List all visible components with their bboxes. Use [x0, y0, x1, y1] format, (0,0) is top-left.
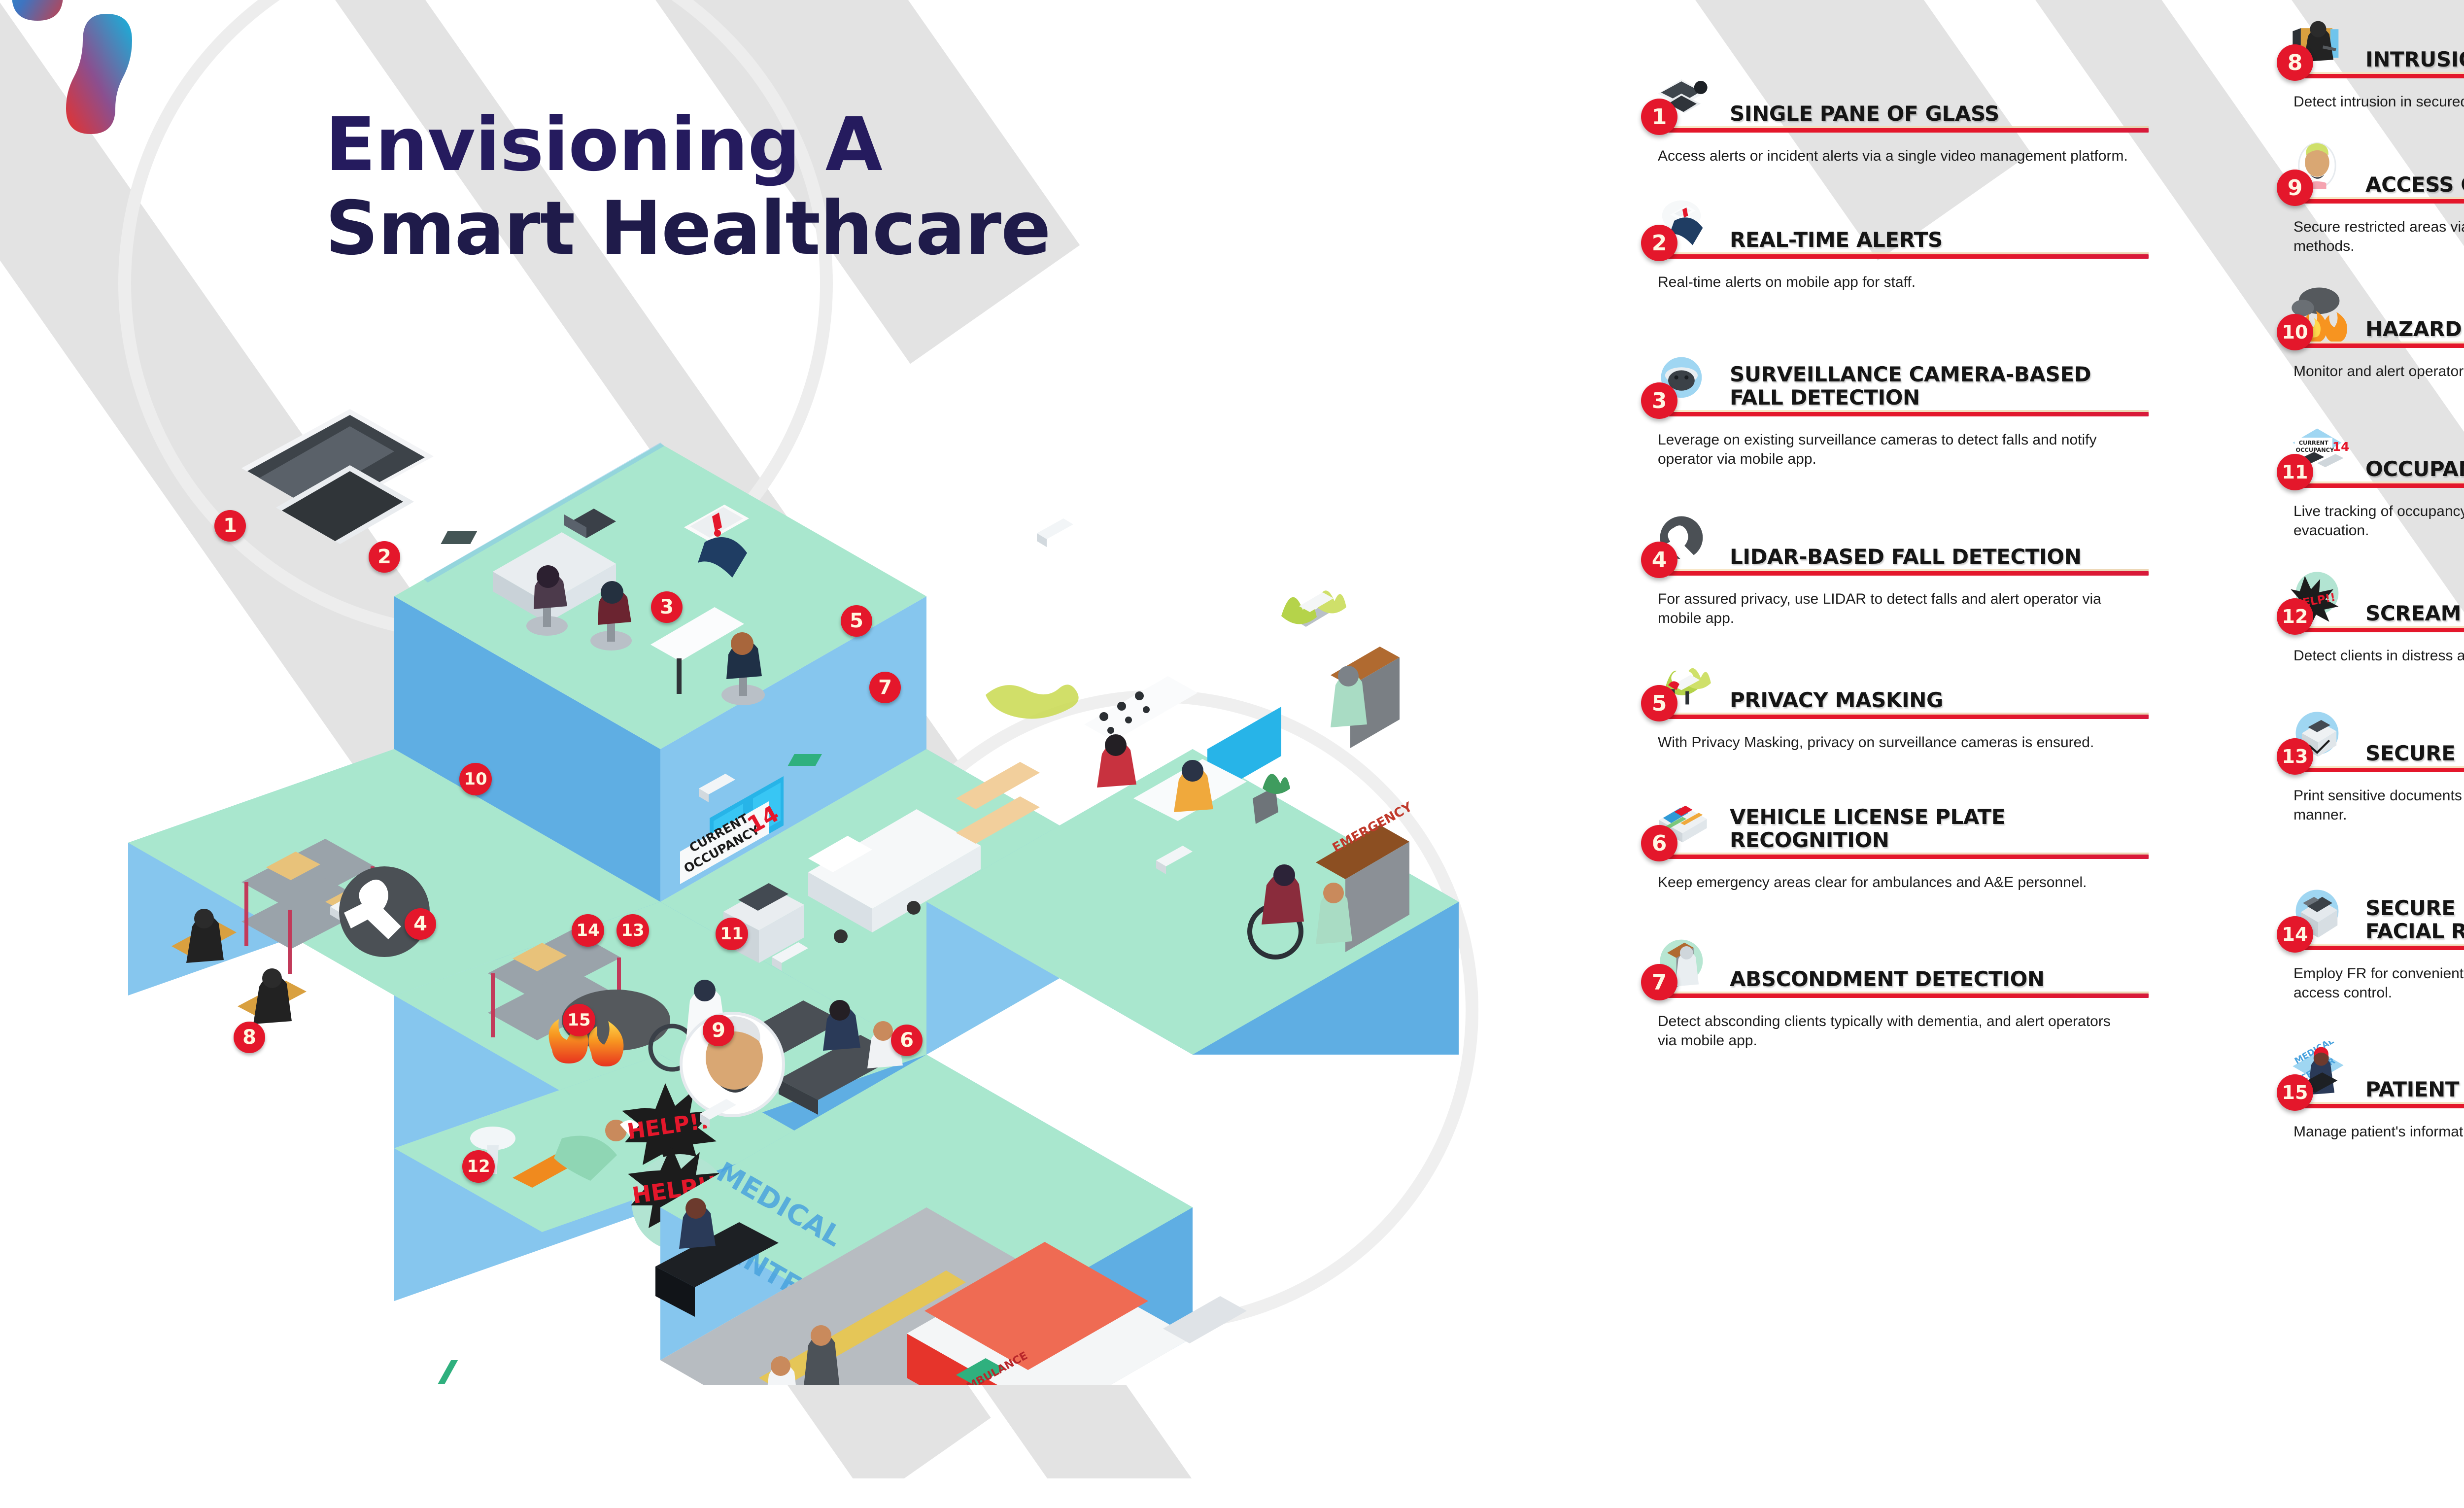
legend-desc-1: Access alerts or incident alerts via a s… [1658, 146, 2131, 166]
legend-desc-2: Real-time alerts on mobile app for staff… [1658, 273, 2131, 292]
legend-title-6: VEHICLE LICENSE PLATE RECOGNITION [1730, 805, 2149, 855]
legend-badge-7: 7 [1641, 964, 1677, 1000]
legend-item-11[interactable]: CURRENTOCCUPANCY14 11 OCCUPANCY MANAGEME… [2277, 410, 2464, 540]
legend-title-9: ACCESS CONTROL [2365, 173, 2464, 199]
illustration-marker-7[interactable]: 7 [869, 672, 901, 703]
legend-desc-3: Leverage on existing surveillance camera… [1658, 430, 2131, 469]
legend-rule [2293, 946, 2464, 950]
illustration-marker-10[interactable]: 10 [459, 763, 492, 795]
legend-title-11: OCCUPANCY MANAGEMENT [2365, 457, 2464, 483]
illustration-marker-14[interactable]: 14 [572, 914, 604, 947]
legend-badge-10: 10 [2277, 314, 2313, 350]
legend-title-13: SECURE PRINT MANAGEMENT [2365, 742, 2464, 768]
legend-badge-8: 8 [2277, 44, 2313, 81]
svg-text:14: 14 [2332, 440, 2349, 454]
intruder-2 [238, 968, 307, 1024]
title-line-2: Smart Healthcare [325, 187, 1051, 271]
legend-item-10[interactable]: 10 HAZARD DETECTION Monitor and alert op… [2277, 284, 2464, 381]
legend-item-15[interactable]: MEDICALCENTER 15 PATIENT RECORD MANAGEME… [2277, 1030, 2464, 1141]
legend-item-12[interactable]: HELP!! 12 SCREAM DETECTION Detect client… [2277, 569, 2464, 665]
legend-item-5[interactable]: 5 PRIVACY MASKING With Privacy Masking, … [1641, 655, 2149, 752]
legend-item-3[interactable]: 3 SURVEILLANCE CAMERA-BASED FALL DETECTI… [1641, 318, 2149, 469]
decorative-blobs-top-left [10, 0, 177, 286]
legend-title-1: SINGLE PANE OF GLASS [1730, 102, 1999, 128]
legend-title-7: ABSCONDMENT DETECTION [1730, 967, 2045, 994]
svg-text:OCCUPANCY: OCCUPANCY [2296, 446, 2334, 453]
legend-title-4: LIDAR-BASED FALL DETECTION [1730, 545, 2081, 571]
legend-badge-11: 11 [2277, 454, 2313, 490]
legend-column-left: 1 SINGLE PANE OF GLASS Access alerts or … [1641, 69, 2149, 1050]
legend-rule [2293, 343, 2464, 348]
legend-desc-10: Monitor and alert operator if there is s… [2293, 362, 2464, 381]
legend-desc-15: Manage patient's information in secure s… [2293, 1122, 2464, 1141]
legend-item-6[interactable]: 6 VEHICLE LICENSE PLATE RECOGNITION Keep… [1641, 781, 2149, 892]
illustration-marker-3[interactable]: 3 [651, 591, 683, 623]
legend-desc-9: Secure restricted areas via face recogni… [2293, 217, 2464, 256]
legend-item-2[interactable]: 2 REAL-TIME ALERTS Real-time alerts on m… [1641, 195, 2149, 292]
legend-item-13[interactable]: 13 SECURE PRINT MANAGEMENT Print sensiti… [2277, 694, 2464, 824]
legend-rule [2293, 483, 2464, 488]
legend-title-2: REAL-TIME ALERTS [1730, 228, 1943, 254]
exit-door [1331, 647, 1400, 748]
svg-text:CURRENT: CURRENT [2299, 440, 2328, 446]
legend-rule [1658, 855, 2149, 859]
illustration-marker-6[interactable]: 6 [891, 1025, 923, 1056]
legend-desc-14: Employ FR for convenient, secure printin… [2293, 964, 2464, 1002]
legend-badge-2: 2 [1641, 225, 1677, 261]
legend-item-1[interactable]: 1 SINGLE PANE OF GLASS Access alerts or … [1641, 69, 2149, 166]
legend-badge-14: 14 [2277, 916, 2313, 953]
legend-badge-9: 9 [2277, 170, 2313, 206]
legend-badge-3: 3 [1641, 382, 1677, 419]
legend-desc-6: Keep emergency areas clear for ambulance… [1658, 873, 2131, 892]
illustration-marker-15[interactable]: 15 [563, 1004, 595, 1036]
legend-rule [2293, 1104, 2464, 1108]
legend-badge-4: 4 [1641, 542, 1677, 578]
legend-desc-13: Print sensitive documents from devices a… [2293, 786, 2464, 824]
legend-badge-15: 15 [2277, 1074, 2313, 1111]
illustration-marker-4[interactable]: 4 [405, 908, 436, 940]
legend-rule [1658, 715, 2149, 719]
illustration-marker-8[interactable]: 8 [234, 1022, 265, 1053]
legend-badge-13: 13 [2277, 738, 2313, 775]
isometric-hospital-illustration: HELP!! HELP!! MEDICAL CENTER [118, 409, 1621, 1385]
illustration-marker-13[interactable]: 13 [616, 914, 649, 947]
legend-rule [1658, 571, 2149, 576]
legend-desc-8: Detect intrusion in secured areas and al… [2293, 92, 2464, 111]
legend-desc-11: Live tracking of occupancy for social di… [2293, 502, 2464, 540]
legend-item-9[interactable]: 9 ACCESS CONTROL Secure restricted areas… [2277, 140, 2464, 256]
legend-title-14: SECURE PRINT CONTROL WITH FACIAL RECOGNI… [2365, 896, 2464, 946]
fallen-person-silhouette [986, 685, 1079, 719]
legend-title-15: PATIENT RECORD MANAGEMENT [2365, 1078, 2464, 1104]
legend-badge-6: 6 [1641, 825, 1677, 861]
legend-item-8[interactable]: 8 INTRUSION DETECTION Detect intrusion i… [2277, 15, 2464, 111]
legend-title-12: SCREAM DETECTION [2365, 602, 2464, 628]
legend-rule [2293, 74, 2464, 78]
legend-rule [2293, 199, 2464, 204]
illustration-marker-11[interactable]: 11 [716, 918, 748, 950]
legend-desc-7: Detect absconding clients typically with… [1658, 1012, 2131, 1050]
legend-title-10: HAZARD DETECTION [2365, 317, 2464, 343]
legend-badge-12: 12 [2277, 598, 2313, 635]
legend-desc-12: Detect clients in distress and alert ope… [2293, 646, 2464, 665]
legend-desc-4: For assured privacy, use LIDAR to detect… [1658, 589, 2131, 628]
page-title: Envisioning A Smart Healthcare [325, 103, 1051, 271]
legend-badge-5: 5 [1641, 685, 1677, 721]
legend-title-8: INTRUSION DETECTION [2365, 48, 2464, 74]
illustration-marker-12[interactable]: 12 [462, 1150, 495, 1183]
legend-desc-5: With Privacy Masking, privacy on surveil… [1658, 733, 2131, 752]
title-line-1: Envisioning A [325, 103, 1051, 187]
legend-title-3: SURVEILLANCE CAMERA-BASED FALL DETECTION [1730, 363, 2149, 412]
legend-rule [2293, 628, 2464, 632]
illustration-marker-2[interactable]: 2 [369, 541, 400, 573]
legend-badge-1: 1 [1641, 99, 1677, 135]
illustration-marker-1[interactable]: 1 [214, 510, 246, 542]
legend-rule [1658, 994, 2149, 998]
legend-title-5: PRIVACY MASKING [1730, 688, 1943, 715]
legend-rule [2293, 768, 2464, 772]
monitor-wall-icon [241, 409, 434, 544]
illustration-marker-5[interactable]: 5 [841, 605, 872, 637]
legend-item-7[interactable]: 7 ABSCONDMENT DETECTION Detect abscondin… [1641, 920, 2149, 1050]
legend-item-14[interactable]: 14 SECURE PRINT CONTROL WITH FACIAL RECO… [2277, 852, 2464, 1002]
legend-rule [1658, 412, 2149, 416]
legend-rule [1658, 254, 2149, 259]
privacy-masking-vignette [1281, 583, 1346, 627]
illustration-marker-9[interactable]: 9 [703, 1015, 734, 1046]
legend-column-right: 8 INTRUSION DETECTION Detect intrusion i… [2277, 15, 2464, 1141]
legend-item-4[interactable]: 4 LIDAR-BASED FALL DETECTION For assured… [1641, 497, 2149, 628]
legend-rule [1658, 128, 2149, 133]
